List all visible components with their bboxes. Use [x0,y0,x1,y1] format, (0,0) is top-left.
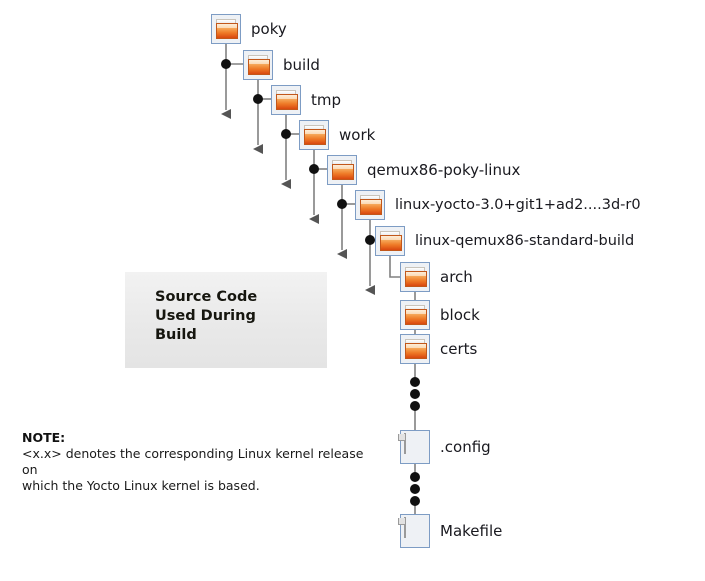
tree-node-label: certs [440,342,477,357]
tree-node-build[interactable]: build [243,50,320,80]
note-title: NOTE: [22,430,382,446]
note-line-2: which the Yocto Linux kernel is based. [22,478,382,494]
note-block: NOTE: <x.x> denotes the corresponding Li… [22,430,382,494]
tree-node-qemux86-poky-linux[interactable]: qemux86-poky-linux [327,155,520,185]
callout-line-2: Used During [155,307,257,326]
file-icon [400,514,430,548]
tree-node-label: arch [440,270,473,285]
tree-node-label: qemux86-poky-linux [367,163,520,178]
folder-icon [299,120,329,150]
folder-icon [375,226,405,256]
folder-icon [327,155,357,185]
folder-icon [271,85,301,115]
tree-node-work[interactable]: work [299,120,375,150]
folder-icon [400,300,430,330]
tree-node-label: .config [440,440,491,455]
callout-line-1: Source Code [155,288,257,307]
tree-node-poky[interactable]: poky [211,14,287,44]
tree-node-label: Makefile [440,524,502,539]
note-line-1: <x.x> denotes the corresponding Linux ke… [22,446,382,478]
tree-node-config-file[interactable]: .config [400,430,491,464]
tree-node-label: tmp [311,93,341,108]
folder-icon [355,190,385,220]
tree-node-arch[interactable]: arch [400,262,473,292]
tree-node-label: block [440,308,480,323]
callout-text: Source Code Used During Build [155,288,257,345]
tree-node-tmp[interactable]: tmp [271,85,341,115]
diagram-canvas: poky build tmp work qemux86-poky-linux l… [0,0,705,581]
folder-icon [243,50,273,80]
folder-icon [400,334,430,364]
folder-icon [400,262,430,292]
folder-icon [211,14,241,44]
source-code-callout: Source Code Used During Build [125,272,327,368]
tree-node-certs[interactable]: certs [400,334,477,364]
tree-node-label: linux-qemux86-standard-build [415,234,634,249]
tree-node-label: work [339,128,375,143]
tree-node-makefile[interactable]: Makefile [400,514,502,548]
tree-node-label: linux-yocto-3.0+git1+ad2....3d-r0 [395,198,641,213]
tree-node-linux-qemux86-standard-build[interactable]: linux-qemux86-standard-build [375,226,634,256]
tree-node-linux-yocto[interactable]: linux-yocto-3.0+git1+ad2....3d-r0 [355,190,641,220]
file-icon [400,430,430,464]
tree-node-label: build [283,58,320,73]
callout-line-3: Build [155,326,257,345]
tree-node-block[interactable]: block [400,300,480,330]
tree-node-label: poky [251,22,287,37]
